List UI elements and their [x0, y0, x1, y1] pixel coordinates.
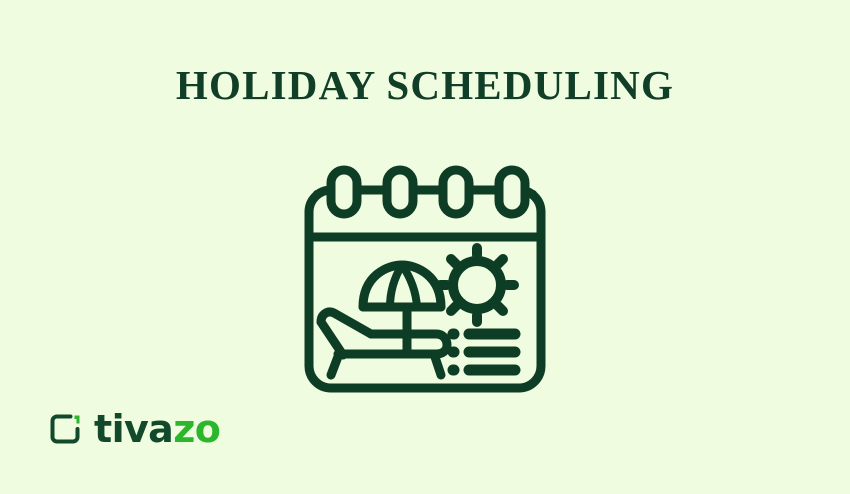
tivazo-wordmark: tiva zo [94, 410, 220, 448]
slide-canvas: HOLIDAY SCHEDULING [0, 0, 850, 494]
calendar-ring [331, 170, 357, 214]
sun-icon [440, 248, 514, 322]
logo-word-primary: tiva [94, 410, 173, 448]
calendar-ring [499, 170, 525, 214]
calendar-ring [443, 170, 469, 214]
calendar-ring [387, 170, 413, 214]
holiday-calendar-illustration [295, 160, 555, 400]
page-title: HOLIDAY SCHEDULING [0, 62, 850, 109]
tivazo-logo-mark [48, 412, 82, 446]
logo-word-accent: zo [173, 410, 220, 448]
tivazo-logo: tiva zo [48, 404, 220, 454]
